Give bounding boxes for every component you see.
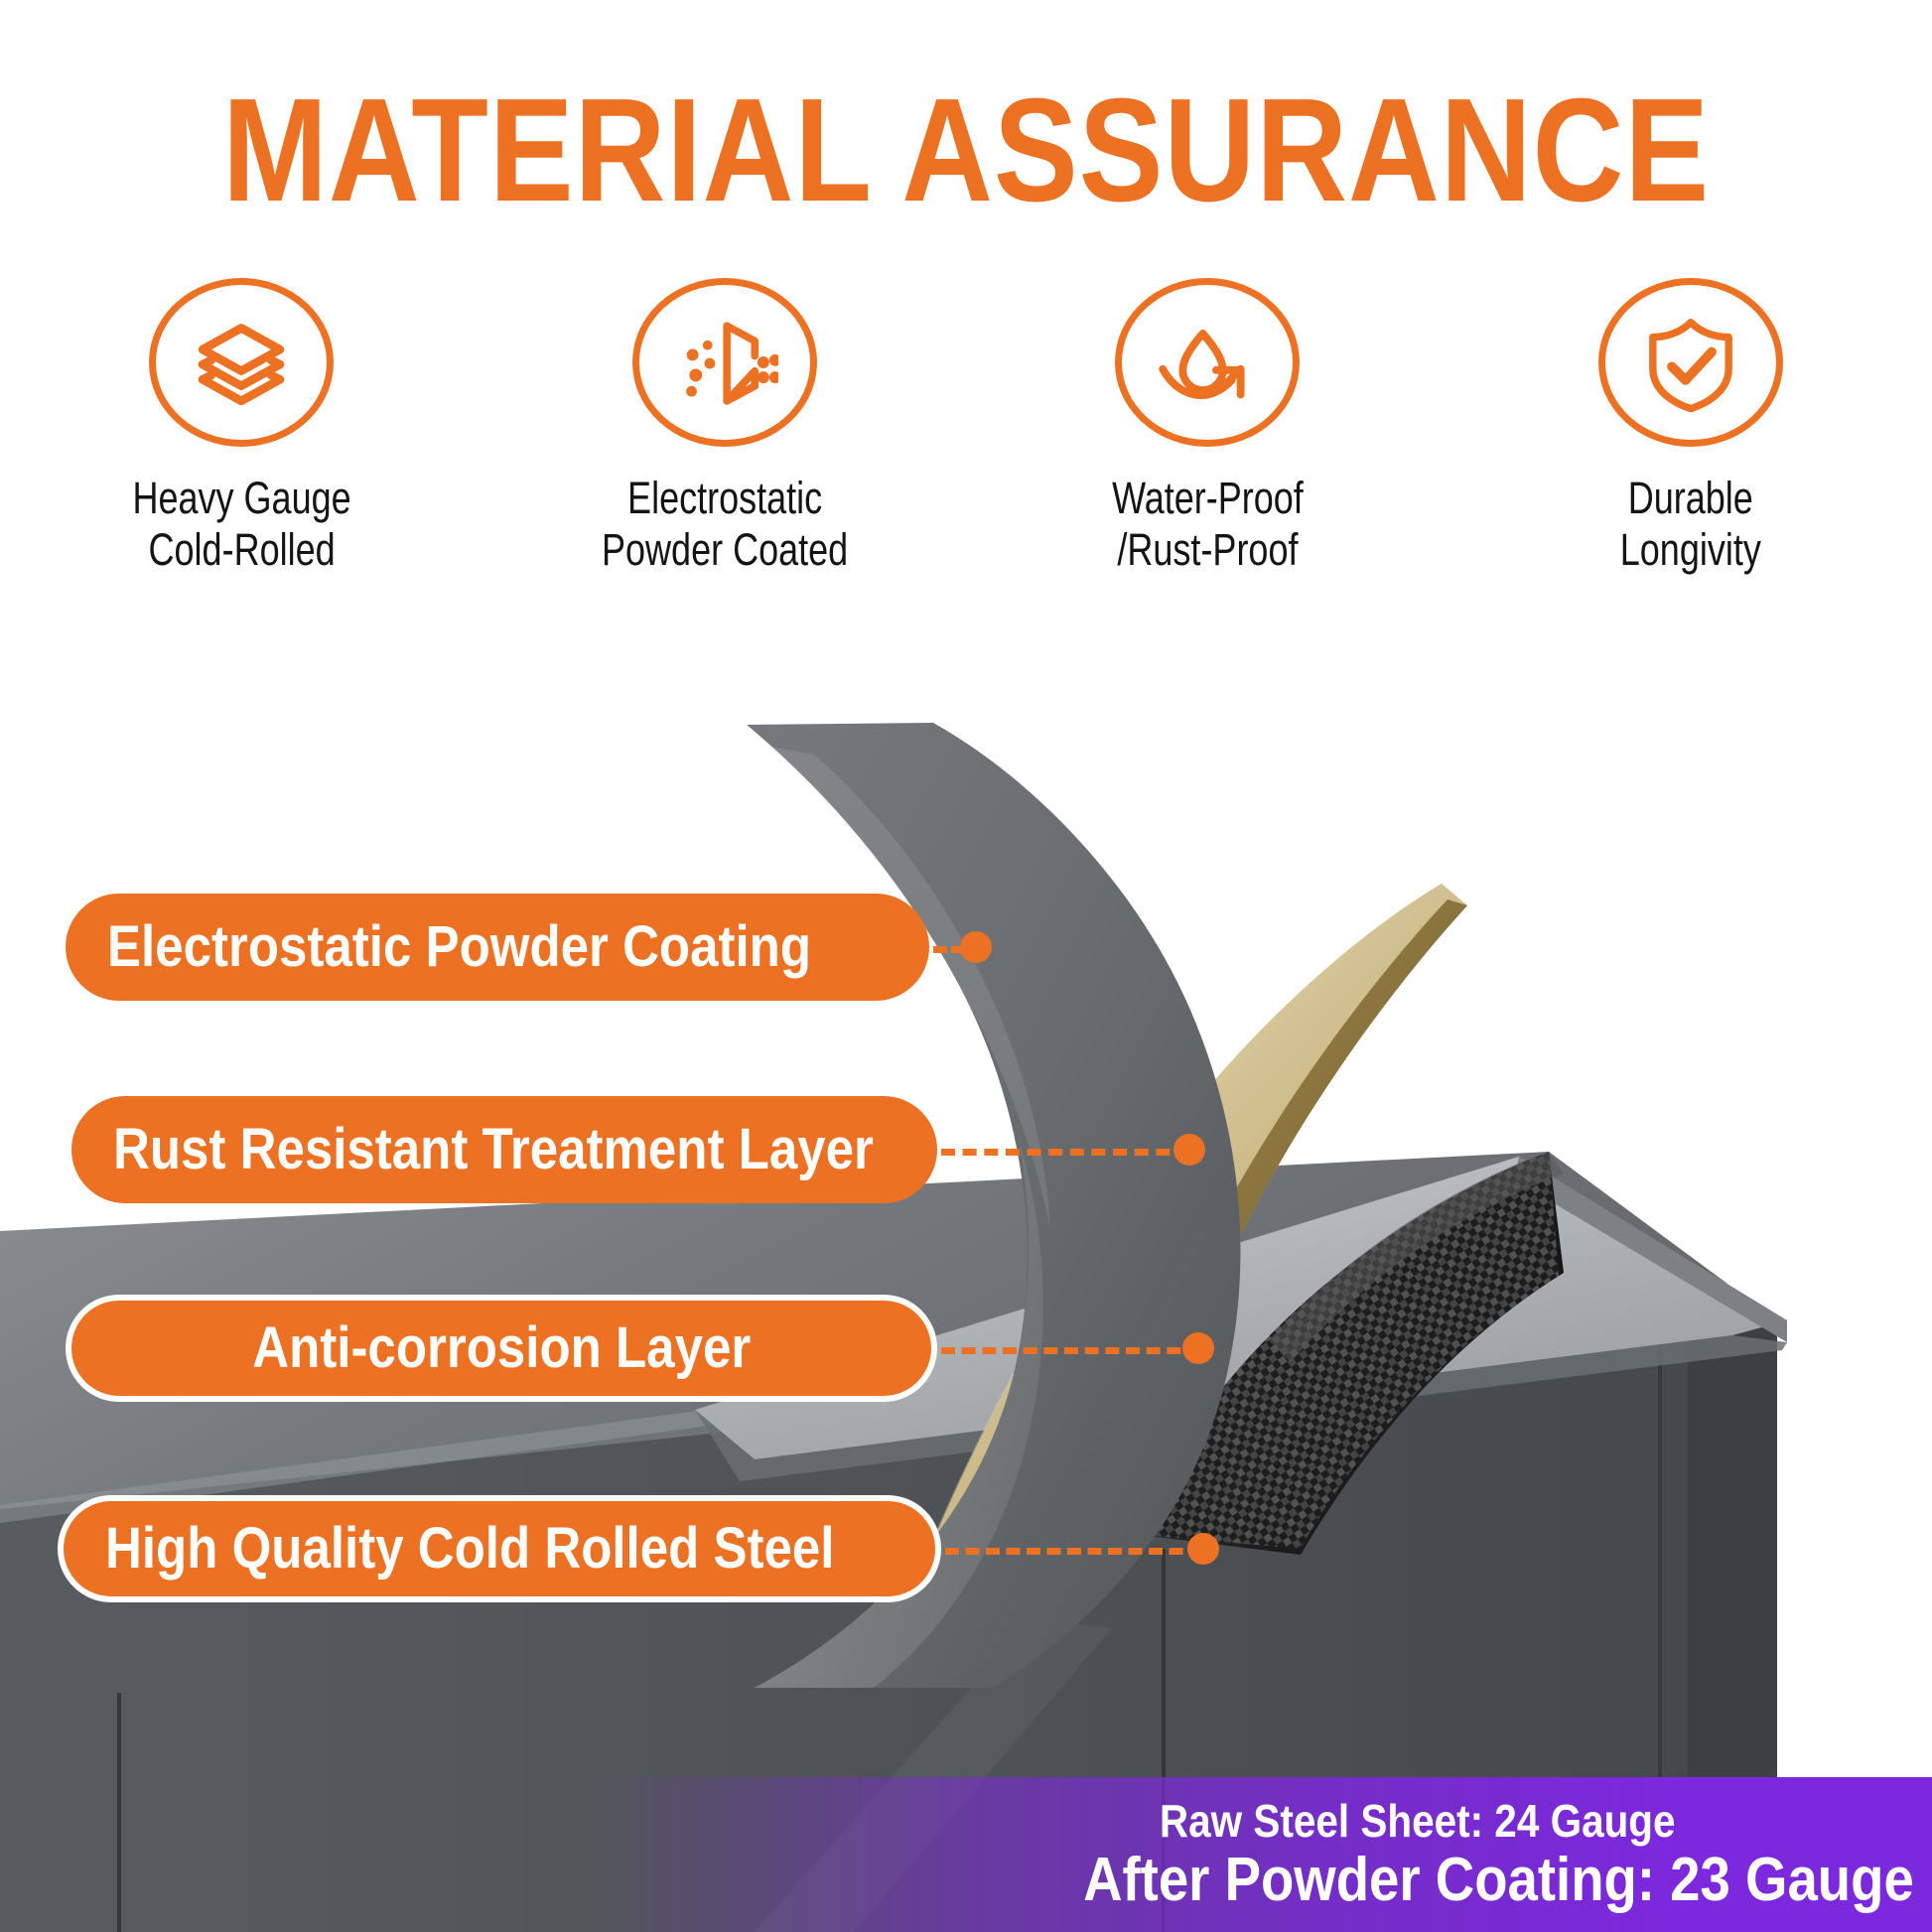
- callout-cold-rolled-steel[interactable]: High Quality Cold Rolled Steel: [58, 1495, 941, 1602]
- banner-after-coating-gauge: After Powder Coating: 23 Gauge: [1083, 1850, 1914, 1911]
- callout-label: High Quality Cold Rolled Steel: [105, 1520, 834, 1578]
- feature-circle: [1598, 278, 1783, 447]
- callout-anti-corrosion[interactable]: Anti-corrosion Layer: [66, 1295, 937, 1402]
- callout-label: Electrostatic Powder Coating: [107, 918, 811, 976]
- water-repellent-icon: [1152, 307, 1263, 418]
- callout-label: Rust Resistant Treatment Layer: [113, 1121, 874, 1178]
- shield-check-icon: [1638, 310, 1743, 415]
- leader-dot-cold-rolled-steel: [1187, 1533, 1219, 1565]
- feature-circle: [149, 278, 334, 447]
- feature-item-durable: Durable Longivity: [1449, 278, 1932, 576]
- feature-label: Durable Longivity: [1620, 473, 1761, 576]
- layers-icon: [188, 309, 295, 416]
- feature-row: Heavy Gauge Cold-Rolled: [0, 278, 1932, 576]
- feature-label: Electrostatic Powder Coated: [602, 473, 848, 576]
- infographic-page: MATERIAL ASSURANCE Heavy Gauge Cold-: [0, 0, 1932, 1932]
- feature-item-heavy-gauge: Heavy Gauge Cold-Rolled: [0, 278, 483, 576]
- callout-rust-resistant[interactable]: Rust Resistant Treatment Layer: [71, 1096, 937, 1203]
- feature-item-powder-coated: Electrostatic Powder Coated: [483, 278, 967, 576]
- leader-line-anti-corrosion: [941, 1347, 1201, 1354]
- powder-spray-icon: [671, 309, 778, 416]
- feature-label: Heavy Gauge Cold-Rolled: [132, 473, 350, 576]
- page-title: MATERIAL ASSURANCE: [135, 77, 1797, 224]
- feature-item-water-proof: Water-Proof /Rust-Proof: [966, 278, 1449, 576]
- feature-circle: [632, 278, 817, 447]
- banner-raw-steel-gauge: Raw Steel Sheet: 24 Gauge: [1160, 1798, 1676, 1844]
- gauge-banner: Raw Steel Sheet: 24 Gauge After Powder C…: [596, 1777, 1932, 1932]
- callout-powder-coating[interactable]: Electrostatic Powder Coating: [66, 894, 929, 1001]
- leader-line-rust-resistant: [941, 1149, 1191, 1156]
- leader-dot-anti-corrosion: [1182, 1332, 1214, 1364]
- leader-line-cold-rolled-steel: [945, 1548, 1203, 1555]
- feature-circle: [1115, 278, 1300, 447]
- feature-label: Water-Proof /Rust-Proof: [1112, 473, 1304, 576]
- leader-dot-rust-resistant: [1173, 1134, 1205, 1166]
- leader-dot-powder-coating: [960, 931, 992, 963]
- callout-label: Anti-corrosion Layer: [252, 1319, 751, 1377]
